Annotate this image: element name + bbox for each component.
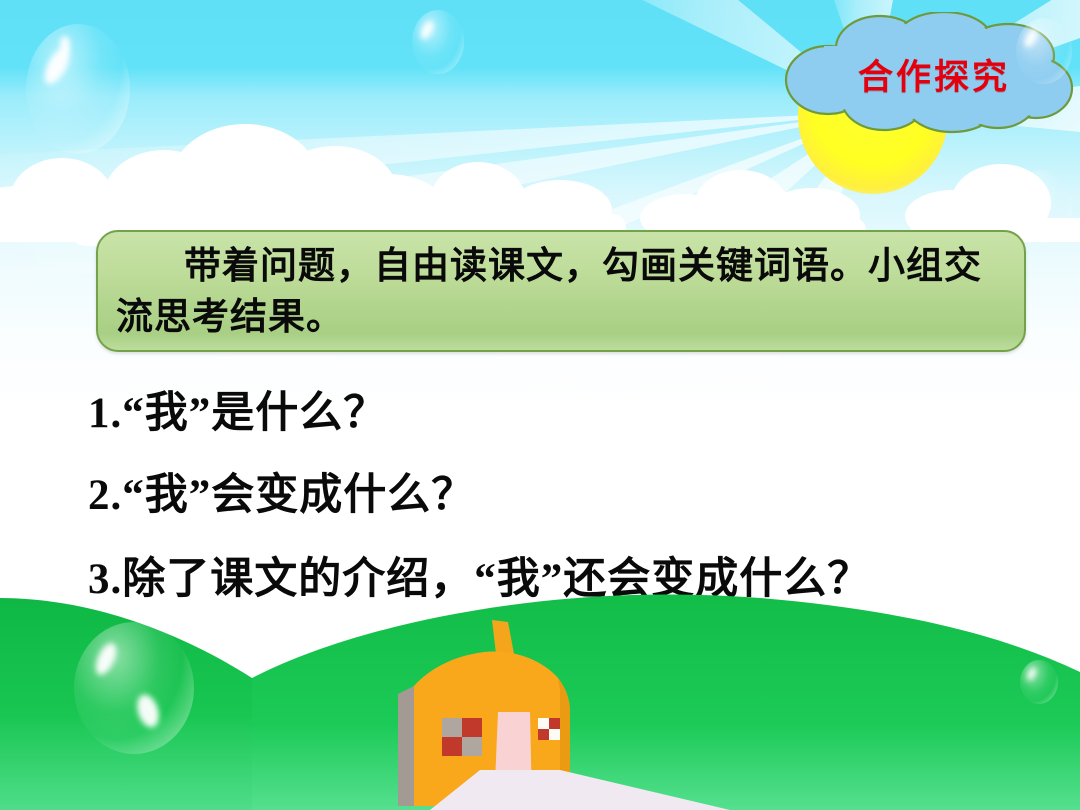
slide-canvas: 合作探究 带着问题，自由读课文，勾画关键词语。小组交流思考结果。 1.“我”是什…: [0, 0, 1080, 810]
question-item-1: 1.“我”是什么？: [88, 378, 387, 440]
instruction-box: 带着问题，自由读课文，勾画关键词语。小组交流思考结果。: [96, 230, 1026, 352]
window-icon: [538, 718, 560, 740]
cloud-icon: [390, 158, 630, 240]
window-icon: [442, 718, 482, 756]
title-badge[interactable]: 合作探究: [784, 12, 1074, 134]
chimney-icon: [492, 620, 514, 654]
instruction-text: 带着问题，自由读课文，勾画关键词语。小组交流思考结果。: [116, 242, 1010, 343]
path-icon: [430, 770, 730, 810]
house-shadow: [398, 686, 414, 806]
cloud-icon: [0, 150, 154, 242]
title-badge-label: 合作探究: [784, 12, 1074, 134]
hill-icon: [0, 598, 252, 810]
question-item-2: 2.“我”会变成什么？: [88, 460, 475, 522]
